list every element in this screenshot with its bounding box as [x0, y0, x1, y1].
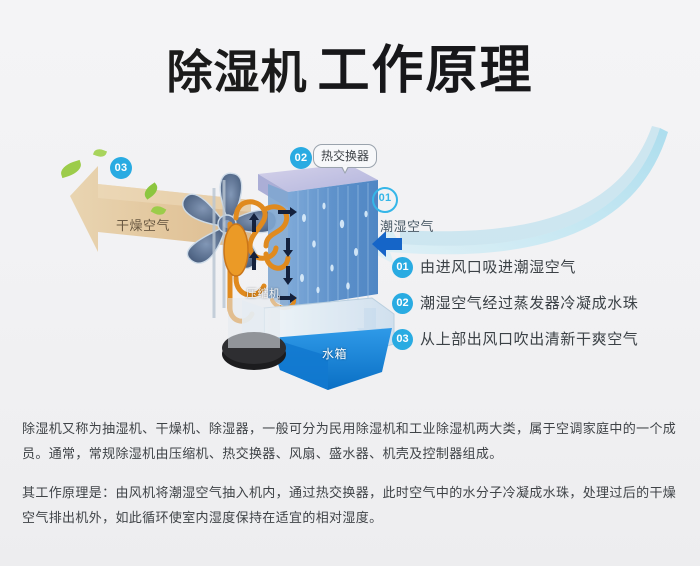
legend-text-03: 从上部出风口吹出清新干爽空气	[420, 328, 638, 349]
legend-badge-02: 02	[392, 293, 413, 314]
infographic-page: 除湿机工作原理	[0, 0, 700, 566]
legend-text-02: 潮湿空气经过蒸发器冷凝成水珠	[420, 292, 638, 313]
badge-02: 02	[290, 147, 312, 169]
badge-01: 01	[372, 187, 398, 213]
legend-text-01: 由进风口吸进潮湿空气	[420, 256, 576, 277]
badge-03: 03	[110, 157, 132, 179]
list-item: 02 潮湿空气经过蒸发器冷凝成水珠	[392, 291, 682, 327]
dry-air-label: 干燥空气	[116, 215, 170, 234]
humid-air-label: 潮湿空气	[380, 216, 434, 235]
page-title-part2: 工作原理	[317, 42, 533, 100]
legend-badge-01: 01	[392, 257, 413, 278]
legend-list: 01 由进风口吸进潮湿空气 02 潮湿空气经过蒸发器冷凝成水珠 03 从上部出风…	[392, 255, 682, 363]
water-tank-label: 水箱	[322, 345, 347, 362]
paragraph-1: 除湿机又称为抽湿机、干燥机、除湿器，一般可分为民用除湿机和工业除湿机两大类，属于…	[22, 416, 682, 466]
page-title: 除湿机工作原理	[0, 28, 700, 103]
list-item: 03 从上部出风口吹出清新干爽空气	[392, 327, 682, 363]
legend-badge-03: 03	[392, 329, 413, 350]
list-item: 01 由进风口吸进潮湿空气	[392, 255, 682, 291]
page-title-part1: 除湿机	[166, 46, 307, 98]
compressor-label: 压缩机	[246, 285, 281, 301]
paragraph-2: 其工作原理是：由风机将潮湿空气抽入机内，通过热交换器，此时空气中的水分子冷凝成水…	[22, 480, 682, 530]
body-copy: 除湿机又称为抽湿机、干燥机、除湿器，一般可分为民用除湿机和工业除湿机两大类，属于…	[22, 416, 682, 530]
heat-exchanger-callout: 热交换器	[313, 144, 377, 168]
